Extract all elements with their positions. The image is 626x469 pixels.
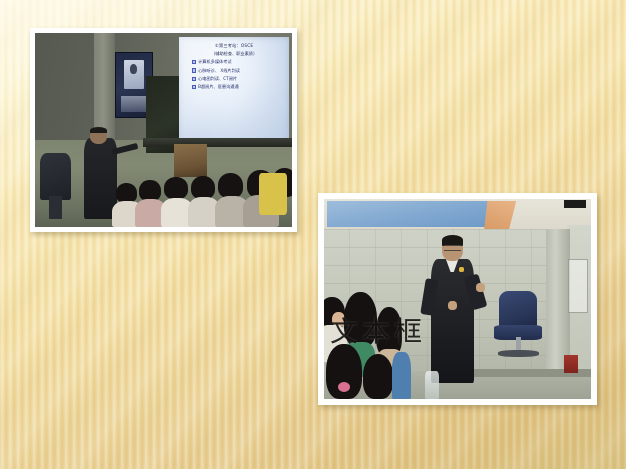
office-chair xyxy=(40,153,71,200)
waste-bin xyxy=(564,355,577,373)
office-chair-leg xyxy=(49,196,62,219)
classroom-teacher-photo-frame[interactable] xyxy=(318,193,597,405)
wall-pillar xyxy=(546,229,570,373)
teacher-hair xyxy=(442,235,463,245)
poster-caption-block xyxy=(121,96,147,113)
poster-portrait-head xyxy=(130,64,137,74)
student-head xyxy=(344,292,377,347)
yellow-bag xyxy=(259,173,287,216)
lecturer-hair xyxy=(90,127,107,134)
teacher-left-hand xyxy=(448,301,457,310)
water-bottle xyxy=(425,371,438,399)
student-torso xyxy=(392,352,411,399)
student-head xyxy=(164,177,187,199)
student-head xyxy=(139,180,161,201)
student-head xyxy=(363,354,394,399)
classroom-teacher-photo[interactable] xyxy=(324,199,591,399)
lecture-hall-photo[interactable]: ①第三考站：OSCE （辅助检查、职业素质） 计算机多媒体考试 心肺听诊、 X线… xyxy=(35,33,292,227)
projection-screen: ①第三考站：OSCE （辅助检查、职业素质） 计算机多媒体考试 心肺听诊、 X线… xyxy=(179,37,290,146)
ceiling-fixture xyxy=(564,200,585,208)
student-head xyxy=(218,173,243,198)
teacher-right-hand xyxy=(476,283,485,292)
projected-slide-title: ①第三考站：OSCE xyxy=(181,43,287,49)
office-chair xyxy=(492,291,545,357)
projected-slide-bullet-4: B超阅片、医患沟通通 xyxy=(181,84,287,90)
projected-slide-bullet-2: 心肺听诊、 X线片判读 xyxy=(181,68,287,74)
student-audience xyxy=(324,275,441,399)
glasses-icon xyxy=(444,245,462,250)
front-desk xyxy=(143,138,292,148)
student-hair-clip xyxy=(338,382,350,392)
office-chair-back xyxy=(499,291,537,329)
teacher-badge xyxy=(459,267,464,272)
blue-banner xyxy=(327,201,495,227)
presentation-slide: ①第三考站：OSCE （辅助检查、职业素质） 计算机多媒体考试 心肺听诊、 X线… xyxy=(0,0,626,469)
lecture-hall-photo-frame[interactable]: ①第三考站：OSCE （辅助检查、职业素质） 计算机多媒体考试 心肺听诊、 X线… xyxy=(30,28,297,232)
projected-slide-subtitle: （辅助检查、职业素质） xyxy=(181,51,287,57)
wall-chart xyxy=(568,259,589,313)
projected-slide-text: ①第三考站：OSCE （辅助检查、职业素质） 计算机多媒体考试 心肺听诊、 X线… xyxy=(181,43,287,90)
poster-portrait xyxy=(124,60,144,89)
projected-slide-bullet-1: 计算机多媒体考试 xyxy=(181,59,287,65)
projected-slide-bullet-3: 心电图判读、CT阅片 xyxy=(181,76,287,82)
office-chair-base xyxy=(498,350,540,357)
student-head xyxy=(191,176,214,200)
